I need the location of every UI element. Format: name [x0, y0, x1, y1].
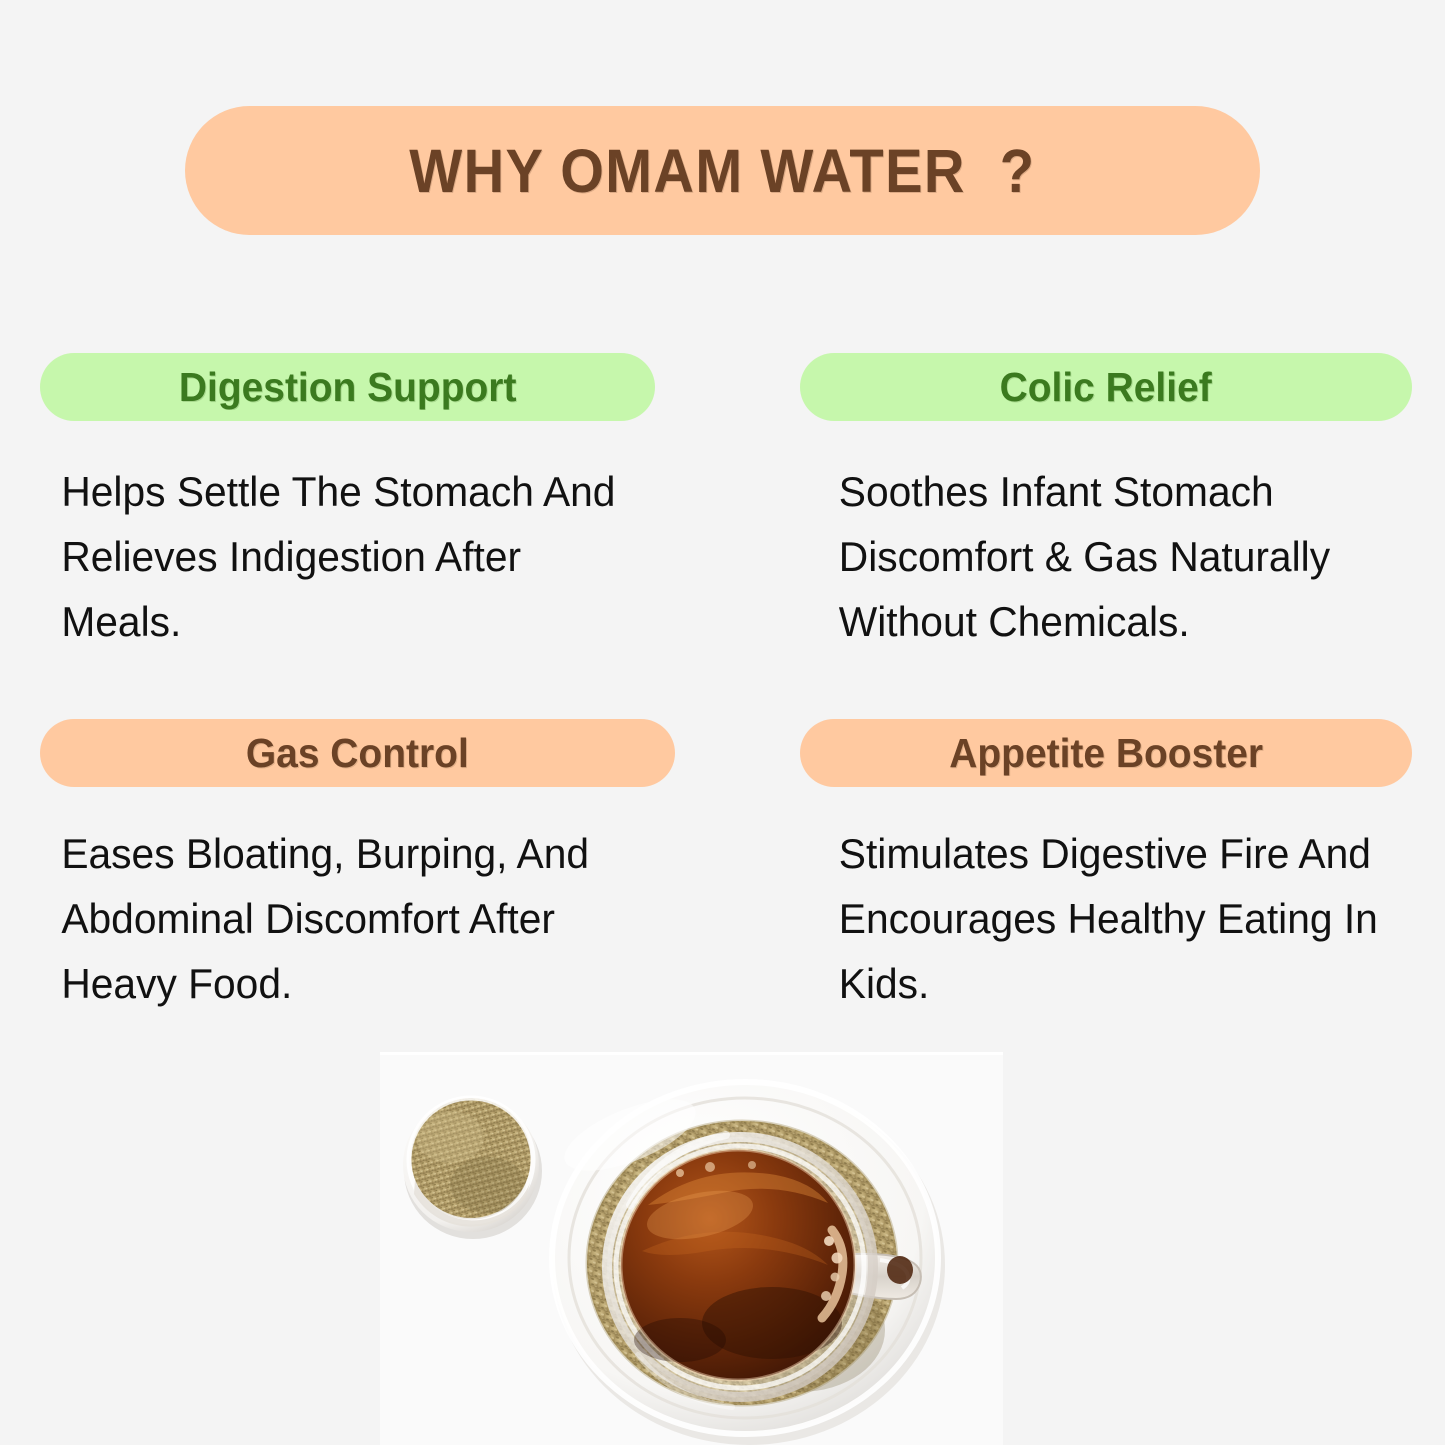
benefit-pill-digestion-support: Digestion Support [40, 353, 655, 421]
omam-water-photo [380, 1052, 1003, 1445]
glass-cup [607, 1135, 873, 1407]
benefit-label-gas-control: Gas Control [246, 730, 469, 777]
benefit-description-digestion-support: Helps Settle The Stomach And Relieves In… [40, 459, 637, 654]
benefit-pill-gas-control: Gas Control [40, 719, 675, 787]
benefit-description-colic-relief: Soothes Infant Stomach Discomfort & Gas … [800, 459, 1394, 654]
benefit-label-digestion-support: Digestion Support [179, 364, 517, 411]
benefit-description-gas-control: Eases Bloating, Burping, And Abdominal D… [40, 821, 656, 1016]
benefit-card-appetite-booster: Appetite Booster Stimulates Digestive Fi… [800, 719, 1412, 1016]
infographic-page: WHY OMAM WATER ? Digestion Support Helps… [0, 0, 1445, 1445]
photo-inner [380, 1055, 1003, 1445]
benefit-label-colic-relief: Colic Relief [1000, 364, 1212, 411]
benefit-card-colic-relief: Colic Relief Soothes Infant Stomach Disc… [800, 353, 1412, 654]
benefit-card-gas-control: Gas Control Eases Bloating, Burping, And… [40, 719, 675, 1016]
benefit-pill-colic-relief: Colic Relief [800, 353, 1412, 421]
benefit-label-appetite-booster: Appetite Booster [949, 730, 1263, 777]
benefit-description-appetite-booster: Stimulates Digestive Fire And Encourages… [800, 821, 1394, 1016]
benefit-card-digestion-support: Digestion Support Helps Settle The Stoma… [40, 353, 655, 654]
photo-illustration [380, 1055, 1003, 1445]
benefit-pill-appetite-booster: Appetite Booster [800, 719, 1412, 787]
